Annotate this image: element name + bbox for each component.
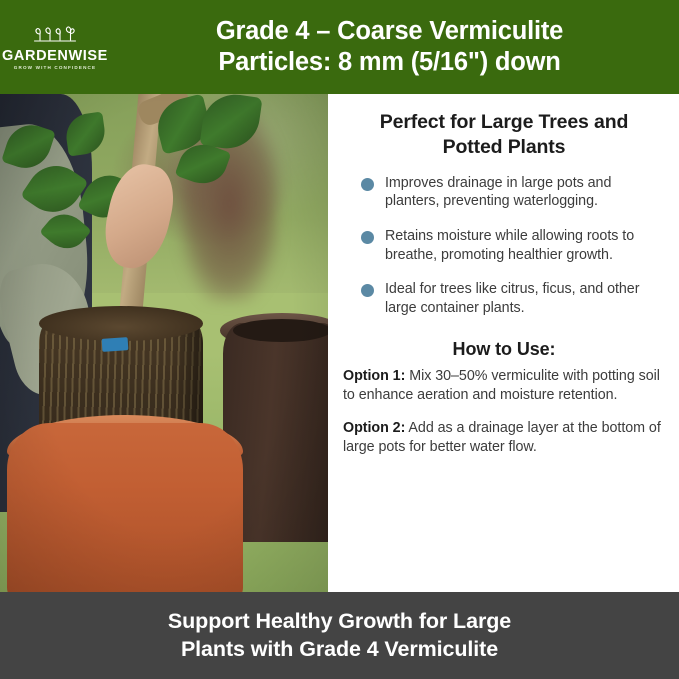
footer-tagline: Support Healthy Growth for Large Plants …: [168, 608, 511, 663]
three-seedlings-icon: [33, 25, 77, 48]
section-heading-line-2: Potted Plants: [443, 136, 566, 158]
photo-vignette: [0, 94, 328, 592]
header-banner: GARDENWISE GROW WITH CONFIDENCE Grade 4 …: [0, 0, 679, 94]
product-infographic: GARDENWISE GROW WITH CONFIDENCE Grade 4 …: [0, 0, 679, 679]
footer-banner: Support Healthy Growth for Large Plants …: [0, 592, 679, 679]
option-1: Option 1: Mix 30–50% vermiculite with po…: [343, 367, 665, 404]
footer-tagline-line-2: Plants with Grade 4 Vermiculite: [168, 636, 511, 664]
page-title-line-2: Particles: 8 mm (5/16") down: [110, 47, 669, 78]
option-2-label: Option 2:: [343, 420, 405, 436]
list-item-text: Improves drainage in large pots and plan…: [385, 174, 665, 211]
list-item: Retains moisture while allowing roots to…: [343, 227, 665, 264]
benefits-list: Improves drainage in large pots and plan…: [343, 174, 665, 318]
brand-logo: GARDENWISE GROW WITH CONFIDENCE: [0, 23, 110, 71]
page-title: Grade 4 – Coarse Vermiculite Particles: …: [110, 16, 679, 78]
bullet-dot-icon: [361, 284, 374, 297]
section-heading: Perfect for Large Trees and Potted Plant…: [343, 110, 665, 160]
list-item-text: Ideal for trees like citrus, ficus, and …: [385, 280, 665, 317]
how-to-use-heading: How to Use:: [343, 339, 665, 360]
footer-tagline-line-1: Support Healthy Growth for Large: [168, 608, 511, 636]
brand-name: GARDENWISE: [2, 49, 108, 64]
option-1-label: Option 1:: [343, 368, 405, 384]
product-photo: [0, 94, 328, 592]
bullet-dot-icon: [361, 178, 374, 191]
content-row: Perfect for Large Trees and Potted Plant…: [0, 94, 679, 592]
list-item: Improves drainage in large pots and plan…: [343, 174, 665, 211]
list-item: Ideal for trees like citrus, ficus, and …: [343, 280, 665, 317]
page-title-line-1: Grade 4 – Coarse Vermiculite: [110, 16, 669, 47]
brand-tagline: GROW WITH CONFIDENCE: [14, 66, 96, 71]
copy-panel: Perfect for Large Trees and Potted Plant…: [328, 94, 679, 592]
bullet-dot-icon: [361, 231, 374, 244]
list-item-text: Retains moisture while allowing roots to…: [385, 227, 665, 264]
option-2: Option 2: Add as a drainage layer at the…: [343, 419, 665, 456]
section-heading-line-1: Perfect for Large Trees and: [380, 111, 628, 133]
